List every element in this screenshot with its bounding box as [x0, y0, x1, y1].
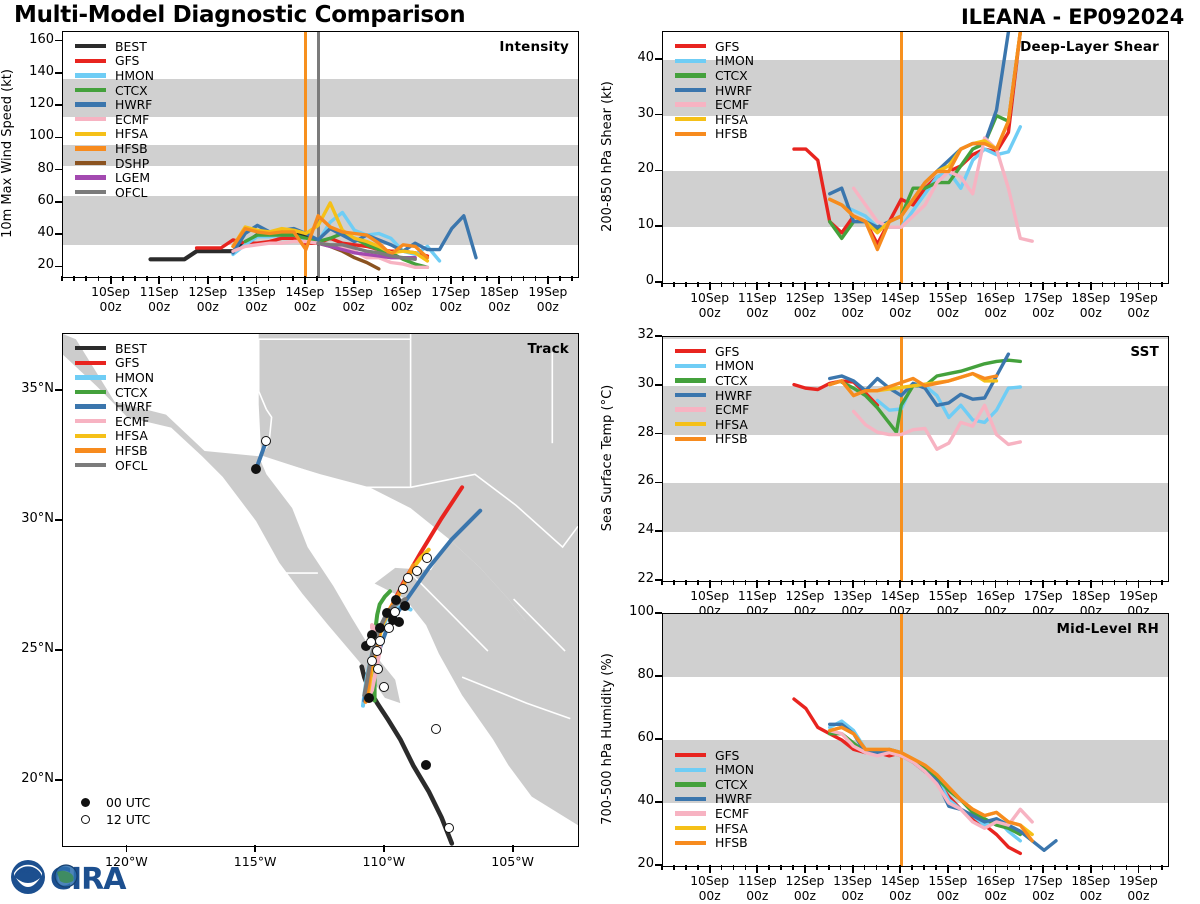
- y-tick: [55, 40, 62, 42]
- legend-swatch-hmon: [75, 73, 106, 77]
- x-tick-minor: [1161, 580, 1163, 585]
- x-tick-minor: [328, 276, 330, 281]
- x-tick: [126, 845, 128, 852]
- legend-item-hfsb[interactable]: HFSB: [675, 432, 754, 447]
- legend-item-gfs[interactable]: GFS: [75, 54, 154, 69]
- legend-item-lgem[interactable]: LGEM: [75, 170, 154, 185]
- x-tick-minor: [673, 865, 675, 870]
- x-tick-minor: [840, 865, 842, 870]
- legend-label: CTCX: [715, 373, 748, 388]
- x-tick-minor: [1066, 282, 1068, 287]
- axis-label-y-intensity: 10m Max Wind Speed (kt): [0, 31, 15, 276]
- x-tick-minor: [280, 276, 282, 281]
- x-tick-major: [1138, 865, 1140, 873]
- x-tick-minor: [721, 865, 723, 870]
- legend-item-hwrf[interactable]: HWRF: [75, 97, 154, 112]
- legend-sst: GFSHMONCTCXHWRFECMFHFSAHFSB: [675, 344, 754, 446]
- x-tick-minor: [1114, 865, 1116, 870]
- x-tick-minor: [341, 276, 343, 281]
- legend-swatch-hfsb: [75, 448, 106, 452]
- x-tick-major: [852, 580, 854, 588]
- x-tick-minor: [1030, 282, 1032, 287]
- legend-label: HFSB: [715, 126, 748, 141]
- x-tick-minor: [745, 580, 747, 585]
- x-tick-minor: [733, 865, 735, 870]
- x-tick-major: [450, 276, 452, 284]
- x-tick-minor: [685, 865, 687, 870]
- x-tick-minor: [1150, 282, 1152, 287]
- x-tick: [512, 845, 514, 852]
- legend-swatch-hmon: [675, 768, 706, 772]
- x-tick-label: 115°W: [210, 854, 300, 869]
- x-tick-minor: [98, 276, 100, 281]
- x-tick-minor: [959, 865, 961, 870]
- x-tick-minor: [1161, 865, 1163, 870]
- x-tick-major: [995, 282, 997, 290]
- x-tick-major: [947, 865, 949, 873]
- x-tick-minor: [85, 276, 87, 281]
- x-tick-major: [207, 276, 209, 284]
- legend-label: HFSB: [715, 835, 748, 850]
- legend-swatch-best: [75, 44, 106, 48]
- legend-swatch-ecmf: [675, 407, 706, 411]
- legend-label: HMON: [715, 358, 754, 373]
- marker-12utc: [422, 553, 432, 563]
- legend-item-hwrf[interactable]: HWRF: [75, 399, 154, 414]
- x-tick-minor: [1007, 580, 1009, 585]
- x-tick-minor: [231, 276, 233, 281]
- legend-item-ofcl[interactable]: OFCL: [75, 458, 154, 473]
- x-tick-minor: [292, 276, 294, 281]
- legend-item-gfs[interactable]: GFS: [675, 344, 754, 359]
- x-tick-minor: [559, 276, 561, 281]
- legend-swatch-ecmf: [675, 102, 706, 106]
- legend-label: GFS: [715, 39, 739, 54]
- x-tick-minor: [685, 580, 687, 585]
- y-tick: [55, 519, 62, 521]
- legend-swatch-ofcl: [75, 463, 106, 467]
- marker-legend-label: 00 UTC: [106, 795, 150, 810]
- legend-label: HMON: [115, 370, 154, 385]
- x-tick-minor: [840, 580, 842, 585]
- x-tick-minor: [1126, 580, 1128, 585]
- x-tick-minor: [864, 580, 866, 585]
- x-tick-minor: [389, 276, 391, 281]
- x-tick-minor: [876, 865, 878, 870]
- legend-item-hwrf[interactable]: HWRF: [675, 83, 754, 98]
- y-tick: [655, 801, 662, 803]
- legend-swatch-best: [75, 346, 106, 350]
- legend-swatch-ctcx: [675, 782, 706, 786]
- x-tick-minor: [1150, 580, 1152, 585]
- x-tick-minor: [828, 580, 830, 585]
- legend-item-ctcx[interactable]: CTCX: [675, 373, 754, 388]
- x-tick-label: 19Sep00z: [508, 285, 588, 315]
- x-tick-major: [899, 865, 901, 873]
- legend-swatch-ctcx: [675, 73, 706, 77]
- page-title: Multi-Model Diagnostic Comparison: [14, 2, 465, 28]
- legend-label: HFSB: [115, 141, 148, 156]
- x-tick-major: [256, 276, 258, 284]
- legend-item-ecmf[interactable]: ECMF: [75, 112, 154, 127]
- x-tick-minor: [1102, 865, 1104, 870]
- legend-item-hfsa[interactable]: HFSA: [75, 429, 154, 444]
- legend-label: DSHP: [115, 156, 149, 171]
- x-tick-minor: [426, 276, 428, 281]
- legend-item-gfs[interactable]: GFS: [675, 39, 754, 54]
- x-tick-minor: [1007, 282, 1009, 287]
- legend-item-hmon[interactable]: HMON: [75, 68, 154, 83]
- x-tick-minor: [1161, 282, 1163, 287]
- x-tick-minor: [935, 580, 937, 585]
- x-tick-minor: [316, 276, 318, 281]
- x-tick-major: [852, 865, 854, 873]
- legend-item-hwrf[interactable]: HWRF: [675, 388, 754, 403]
- x-tick-major: [709, 282, 711, 290]
- x-tick-minor: [792, 282, 794, 287]
- x-tick-minor: [1114, 282, 1116, 287]
- x-tick-minor: [959, 580, 961, 585]
- x-tick-minor: [923, 865, 925, 870]
- x-tick-major: [1138, 282, 1140, 290]
- y-tick-label: 35°N: [0, 381, 54, 396]
- y-tick: [655, 335, 662, 337]
- marker-12utc-icon: [81, 815, 90, 824]
- x-tick-minor: [983, 865, 985, 870]
- x-tick-major: [995, 865, 997, 873]
- legend-item-hwrf[interactable]: HWRF: [675, 792, 754, 807]
- x-tick-minor: [768, 865, 770, 870]
- x-tick-label: 19Sep00z: [1098, 291, 1178, 321]
- legend-label: HFSB: [115, 443, 148, 458]
- legend-item-hmon[interactable]: HMON: [75, 370, 154, 385]
- legend-label: HMON: [715, 53, 754, 68]
- y-tick: [55, 649, 62, 651]
- x-tick-minor: [365, 276, 367, 281]
- legend-label: ECMF: [715, 97, 749, 112]
- x-tick-minor: [971, 282, 973, 287]
- x-tick-minor: [792, 580, 794, 585]
- x-tick-minor: [511, 276, 513, 281]
- x-tick-minor: [935, 282, 937, 287]
- x-tick-major: [947, 580, 949, 588]
- legend-swatch-hwrf: [675, 797, 706, 801]
- legend-label: GFS: [115, 355, 139, 370]
- y-tick: [655, 170, 662, 172]
- x-tick-minor: [1019, 580, 1021, 585]
- legend-label: BEST: [115, 39, 147, 54]
- x-tick-minor: [1078, 580, 1080, 585]
- legend-item-hfsb[interactable]: HFSB: [675, 835, 754, 850]
- x-tick: [383, 845, 385, 852]
- x-tick-minor: [195, 276, 197, 281]
- y-tick: [55, 201, 62, 203]
- legend-item-hfsa[interactable]: HFSA: [675, 417, 754, 432]
- marker-12utc: [398, 584, 408, 594]
- y-tick: [55, 389, 62, 391]
- marker-legend-item: 00 UTC: [81, 794, 150, 811]
- x-tick-minor: [816, 865, 818, 870]
- x-tick-minor: [535, 276, 537, 281]
- x-tick-minor: [1102, 282, 1104, 287]
- x-tick-minor: [816, 580, 818, 585]
- x-tick-minor: [864, 865, 866, 870]
- plot-sst: GFSHMONCTCXHWRFECMFHFSAHFSBSST: [662, 336, 1169, 582]
- storm-title: ILEANA - EP092024: [961, 5, 1184, 29]
- plot-rh: GFSHMONCTCXHWRFECMFHFSAHFSBMid-Level RH: [662, 613, 1169, 867]
- series-line-gfs: [794, 699, 1020, 853]
- marker-12utc: [384, 623, 394, 633]
- legend-swatch-ecmf: [675, 811, 706, 815]
- legend-label: CTCX: [115, 385, 148, 400]
- legend-swatch-hmon: [75, 375, 106, 379]
- legend-label: CTCX: [715, 68, 748, 83]
- legend-item-dshp[interactable]: DSHP: [75, 156, 154, 171]
- x-tick-minor: [745, 282, 747, 287]
- x-tick-minor: [697, 865, 699, 870]
- legend-label: OFCL: [115, 185, 147, 200]
- legend-swatch-lgem: [75, 175, 106, 179]
- legend-swatch-ofcl: [75, 190, 106, 194]
- axis-label-y-sst: Sea Surface Temp (°C): [600, 336, 615, 580]
- x-tick-minor: [816, 282, 818, 287]
- legend-label: HWRF: [715, 388, 752, 403]
- x-tick-minor: [219, 276, 221, 281]
- x-tick-major: [947, 282, 949, 290]
- legend-swatch-ecmf: [75, 419, 106, 423]
- legend-intensity: BESTGFSHMONCTCXHWRFECMFHFSAHFSBDSHPLGEMO…: [75, 39, 154, 200]
- x-tick-minor: [840, 282, 842, 287]
- x-tick-minor: [721, 282, 723, 287]
- x-tick-minor: [935, 865, 937, 870]
- legend-item-gfs[interactable]: GFS: [75, 356, 154, 371]
- x-tick-minor: [661, 865, 663, 870]
- legend-label: HMON: [115, 68, 154, 83]
- x-tick-minor: [462, 276, 464, 281]
- x-tick-minor: [887, 580, 889, 585]
- x-tick-minor: [438, 276, 440, 281]
- x-tick-minor: [697, 282, 699, 287]
- legend-item-ctcx[interactable]: CTCX: [675, 68, 754, 83]
- x-tick-minor: [1114, 580, 1116, 585]
- x-tick-minor: [571, 276, 573, 281]
- legend-label: ECMF: [715, 806, 749, 821]
- x-tick-minor: [1054, 580, 1056, 585]
- y-tick: [655, 433, 662, 435]
- legend-label: CTCX: [715, 777, 748, 792]
- legend-item-ofcl[interactable]: OFCL: [75, 185, 154, 200]
- series-line-ctcx: [830, 32, 1021, 238]
- legend-item-ctcx[interactable]: CTCX: [675, 777, 754, 792]
- x-tick-major: [1090, 865, 1092, 873]
- legend-swatch-gfs: [675, 44, 706, 48]
- legend-swatch-hfsb: [675, 132, 706, 136]
- y-tick: [55, 779, 62, 781]
- legend-swatch-gfs: [75, 361, 106, 365]
- legend-label: HMON: [715, 762, 754, 777]
- legend-label: CTCX: [115, 83, 148, 98]
- legend-swatch-ctcx: [75, 390, 106, 394]
- legend-swatch-hfsa: [675, 422, 706, 426]
- legend-swatch-hmon: [675, 364, 706, 368]
- legend-item-ecmf[interactable]: ECMF: [675, 97, 754, 112]
- legend-swatch-ctcx: [75, 88, 106, 92]
- y-tick: [655, 738, 662, 740]
- x-tick-major: [1042, 282, 1044, 290]
- legend-rh: GFSHMONCTCXHWRFECMFHFSAHFSB: [675, 748, 754, 850]
- x-tick-minor: [828, 282, 830, 287]
- panel-title-rh: Mid-Level RH: [1057, 621, 1159, 637]
- legend-item-ctcx[interactable]: CTCX: [75, 385, 154, 400]
- x-tick-major: [756, 580, 758, 588]
- legend-swatch-ecmf: [75, 117, 106, 121]
- legend-label: HFSA: [115, 126, 148, 141]
- x-tick-major: [353, 276, 355, 284]
- series-line-hmon: [830, 127, 1021, 227]
- legend-swatch-hfsa: [75, 434, 106, 438]
- x-tick-minor: [971, 865, 973, 870]
- legend-item-hfsb[interactable]: HFSB: [675, 127, 754, 142]
- x-tick-major: [401, 276, 403, 284]
- agency-logos: NOAA CIRA: [8, 856, 158, 898]
- x-tick-minor: [1066, 580, 1068, 585]
- legend-swatch-gfs: [675, 753, 706, 757]
- legend-item-best[interactable]: BEST: [75, 39, 154, 54]
- legend-swatch-ctcx: [675, 378, 706, 382]
- marker-legend-label: 12 UTC: [106, 812, 150, 827]
- x-tick-major: [547, 276, 549, 284]
- cira-logo: CIRA: [50, 862, 127, 897]
- y-tick: [655, 384, 662, 386]
- x-tick-minor: [911, 282, 913, 287]
- x-tick-minor: [134, 276, 136, 281]
- x-tick-minor: [1066, 865, 1068, 870]
- x-tick-minor: [486, 276, 488, 281]
- plot-intensity: BESTGFSHMONCTCXHWRFECMFHFSAHFSBDSHPLGEMO…: [62, 31, 579, 278]
- legend-item-ecmf[interactable]: ECMF: [675, 402, 754, 417]
- legend-item-hfsa[interactable]: HFSA: [675, 112, 754, 127]
- x-tick-minor: [1054, 865, 1056, 870]
- legend-item-ctcx[interactable]: CTCX: [75, 83, 154, 98]
- legend-item-hfsb[interactable]: HFSB: [75, 141, 154, 156]
- x-tick-minor: [923, 282, 925, 287]
- x-tick-minor: [243, 276, 245, 281]
- x-tick-minor: [122, 276, 124, 281]
- x-tick-minor: [685, 282, 687, 287]
- x-tick-minor: [73, 276, 75, 281]
- legend-label: ECMF: [115, 414, 149, 429]
- y-tick-label: 30°N: [0, 511, 54, 526]
- legend-swatch-hfsb: [675, 841, 706, 845]
- x-tick-minor: [1007, 865, 1009, 870]
- x-tick-major: [804, 282, 806, 290]
- legend-swatch-hfsa: [675, 826, 706, 830]
- y-tick: [655, 612, 662, 614]
- x-tick-minor: [1150, 865, 1152, 870]
- legend-swatch-hwrf: [675, 88, 706, 92]
- plot-track: BESTGFSHMONCTCXHWRFECMFHFSAHFSBOFCL00 UT…: [62, 333, 579, 847]
- series-line-hfsb: [830, 32, 1021, 250]
- x-tick-minor: [474, 276, 476, 281]
- legend-item-hfsa[interactable]: HFSA: [75, 127, 154, 142]
- legend-label: GFS: [715, 748, 739, 763]
- x-tick-major: [852, 282, 854, 290]
- legend-label: LGEM: [115, 170, 150, 185]
- legend-swatch-hmon: [675, 59, 706, 63]
- x-tick-minor: [780, 282, 782, 287]
- x-tick-minor: [673, 282, 675, 287]
- panel-title-track: Track: [528, 341, 569, 357]
- legend-item-hmon[interactable]: HMON: [675, 762, 754, 777]
- y-tick: [655, 675, 662, 677]
- x-tick-minor: [1030, 865, 1032, 870]
- legend-track: BESTGFSHMONCTCXHWRFECMFHFSAHFSBOFCL: [75, 341, 154, 472]
- axis-label-y-shear: 200-850 hPa Shear (kt): [600, 31, 615, 282]
- x-tick-minor: [911, 865, 913, 870]
- legend-item-hmon[interactable]: HMON: [675, 359, 754, 374]
- x-tick-minor: [923, 580, 925, 585]
- x-tick: [254, 845, 256, 852]
- x-tick-major: [498, 276, 500, 284]
- legend-item-hfsb[interactable]: HFSB: [75, 443, 154, 458]
- x-tick-major: [304, 276, 306, 284]
- y-tick: [655, 114, 662, 116]
- legend-item-hmon[interactable]: HMON: [675, 54, 754, 69]
- legend-item-hfsa[interactable]: HFSA: [675, 821, 754, 836]
- y-tick: [55, 72, 62, 74]
- x-tick-minor: [983, 282, 985, 287]
- legend-label: HWRF: [115, 399, 152, 414]
- x-tick-minor: [413, 276, 415, 281]
- legend-swatch-hfsa: [75, 132, 106, 136]
- y-tick: [655, 225, 662, 227]
- legend-item-best[interactable]: BEST: [75, 341, 154, 356]
- panel-title-shear: Deep-Layer Shear: [1020, 39, 1159, 55]
- legend-label: HFSA: [715, 112, 748, 127]
- legend-swatch-hfsb: [75, 146, 106, 150]
- x-tick-minor: [1102, 580, 1104, 585]
- legend-swatch-gfs: [75, 59, 106, 63]
- legend-item-ecmf[interactable]: ECMF: [675, 806, 754, 821]
- marker-legend-item: 12 UTC: [81, 811, 150, 828]
- svg-text:NOAA: NOAA: [19, 868, 37, 875]
- x-tick-minor: [971, 580, 973, 585]
- x-tick-minor: [61, 276, 63, 281]
- x-tick-minor: [661, 282, 663, 287]
- x-tick-minor: [1126, 282, 1128, 287]
- x-tick-minor: [1126, 865, 1128, 870]
- x-tick-minor: [523, 276, 525, 281]
- axis-label-y-rh: 700-500 hPa Humidity (%): [600, 613, 615, 865]
- y-tick: [55, 137, 62, 139]
- y-tick: [55, 169, 62, 171]
- x-tick-minor: [780, 865, 782, 870]
- x-tick-minor: [1030, 580, 1032, 585]
- x-tick-major: [110, 276, 112, 284]
- legend-marker-times: 00 UTC12 UTC: [81, 794, 150, 828]
- legend-label: GFS: [115, 53, 139, 68]
- legend-item-ecmf[interactable]: ECMF: [75, 414, 154, 429]
- y-tick: [655, 530, 662, 532]
- y-tick: [55, 233, 62, 235]
- x-tick-minor: [1019, 282, 1021, 287]
- legend-item-gfs[interactable]: GFS: [675, 748, 754, 763]
- x-tick-minor: [911, 580, 913, 585]
- y-tick: [655, 482, 662, 484]
- x-tick-minor: [1078, 282, 1080, 287]
- legend-swatch-hwrf: [675, 393, 706, 397]
- x-tick-label: 110°W: [339, 854, 429, 869]
